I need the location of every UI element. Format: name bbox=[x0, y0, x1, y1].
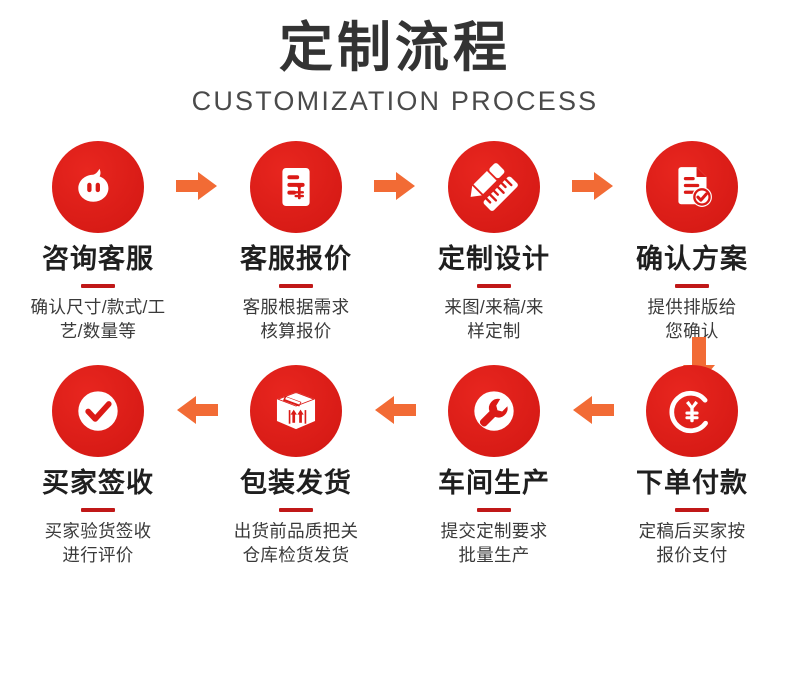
flow-step-buyer-receipt[interactable]: 买家签收 买家验货签收 进行评价 bbox=[7, 365, 189, 567]
step-icon-badge bbox=[52, 141, 144, 233]
step-icon-badge bbox=[646, 365, 738, 457]
connector-arrow-1 bbox=[189, 141, 205, 201]
step-description: 出货前品质把关 仓库检货发货 bbox=[205, 520, 387, 567]
step-title: 定制设计 bbox=[403, 245, 585, 275]
step-icon-badge bbox=[448, 141, 540, 233]
connector-arrow-4 bbox=[189, 365, 205, 425]
step-description: 确认尺寸/款式/工 艺/数量等 bbox=[7, 296, 189, 343]
page-header: 定制流程 CUSTOMIZATION PROCESS bbox=[0, 0, 790, 117]
step-divider bbox=[675, 284, 709, 288]
customization-process-flow: 咨询客服 确认尺寸/款式/工 艺/数量等 bbox=[0, 141, 790, 567]
flow-step-service-quote[interactable]: 客服报价 客服根据需求 核算报价 bbox=[205, 141, 387, 343]
step-divider bbox=[675, 508, 709, 512]
flow-step-place-order-payment[interactable]: 下单付款 定稿后买家按 报价支付 bbox=[601, 365, 783, 567]
step-title: 买家签收 bbox=[7, 469, 189, 499]
step-divider bbox=[279, 284, 313, 288]
connector-arrow-5 bbox=[387, 365, 403, 425]
step-description: 买家验货签收 进行评价 bbox=[7, 520, 189, 567]
step-icon-badge bbox=[250, 141, 342, 233]
check-circle-icon bbox=[68, 381, 128, 441]
step-description: 提交定制要求 批量生产 bbox=[403, 520, 585, 567]
flow-row-top-wrapper: 咨询客服 确认尺寸/款式/工 艺/数量等 bbox=[0, 141, 790, 343]
quote-invoice-icon bbox=[267, 158, 325, 216]
wrench-icon bbox=[464, 381, 524, 441]
step-description: 来图/来稿/来 样定制 bbox=[403, 296, 585, 343]
step-divider bbox=[81, 284, 115, 288]
yuan-circle-icon bbox=[662, 381, 722, 441]
document-check-icon bbox=[663, 158, 721, 216]
step-divider bbox=[279, 508, 313, 512]
step-divider bbox=[477, 284, 511, 288]
page-subtitle: CUSTOMIZATION PROCESS bbox=[0, 86, 790, 117]
flow-step-custom-design[interactable]: 定制设计 来图/来稿/来 样定制 bbox=[403, 141, 585, 343]
pencil-ruler-icon bbox=[465, 158, 523, 216]
step-divider bbox=[477, 508, 511, 512]
step-description: 客服根据需求 核算报价 bbox=[205, 296, 387, 343]
chat-bubble-icon bbox=[68, 157, 128, 217]
flow-step-workshop-production[interactable]: 车间生产 提交定制要求 批量生产 bbox=[403, 365, 585, 567]
flow-step-consult-service[interactable]: 咨询客服 确认尺寸/款式/工 艺/数量等 bbox=[7, 141, 189, 343]
step-icon-badge bbox=[250, 365, 342, 457]
package-box-icon bbox=[267, 382, 325, 440]
step-title: 包装发货 bbox=[205, 469, 387, 499]
flow-step-confirm-plan[interactable]: 确认方案 提供排版给 您确认 bbox=[601, 141, 783, 343]
step-title: 下单付款 bbox=[601, 469, 783, 499]
step-title: 确认方案 bbox=[601, 245, 783, 275]
step-title: 客服报价 bbox=[205, 245, 387, 275]
step-icon-badge bbox=[52, 365, 144, 457]
step-icon-badge bbox=[646, 141, 738, 233]
flow-step-packaging-shipment[interactable]: 包装发货 出货前品质把关 仓库检货发货 bbox=[205, 365, 387, 567]
page-title: 定制流程 bbox=[0, 18, 790, 78]
step-description: 提供排版给 您确认 bbox=[601, 296, 783, 343]
connector-arrow-3 bbox=[585, 141, 601, 201]
flow-row-bottom: 买家签收 买家验货签收 进行评价 bbox=[0, 365, 790, 567]
step-title: 咨询客服 bbox=[7, 245, 189, 275]
step-title: 车间生产 bbox=[403, 469, 585, 499]
step-icon-badge bbox=[448, 365, 540, 457]
flow-row-top: 咨询客服 确认尺寸/款式/工 艺/数量等 bbox=[0, 141, 790, 343]
connector-arrow-2 bbox=[387, 141, 403, 201]
connector-arrow-6 bbox=[585, 365, 601, 425]
step-divider bbox=[81, 508, 115, 512]
step-description: 定稿后买家按 报价支付 bbox=[601, 520, 783, 567]
